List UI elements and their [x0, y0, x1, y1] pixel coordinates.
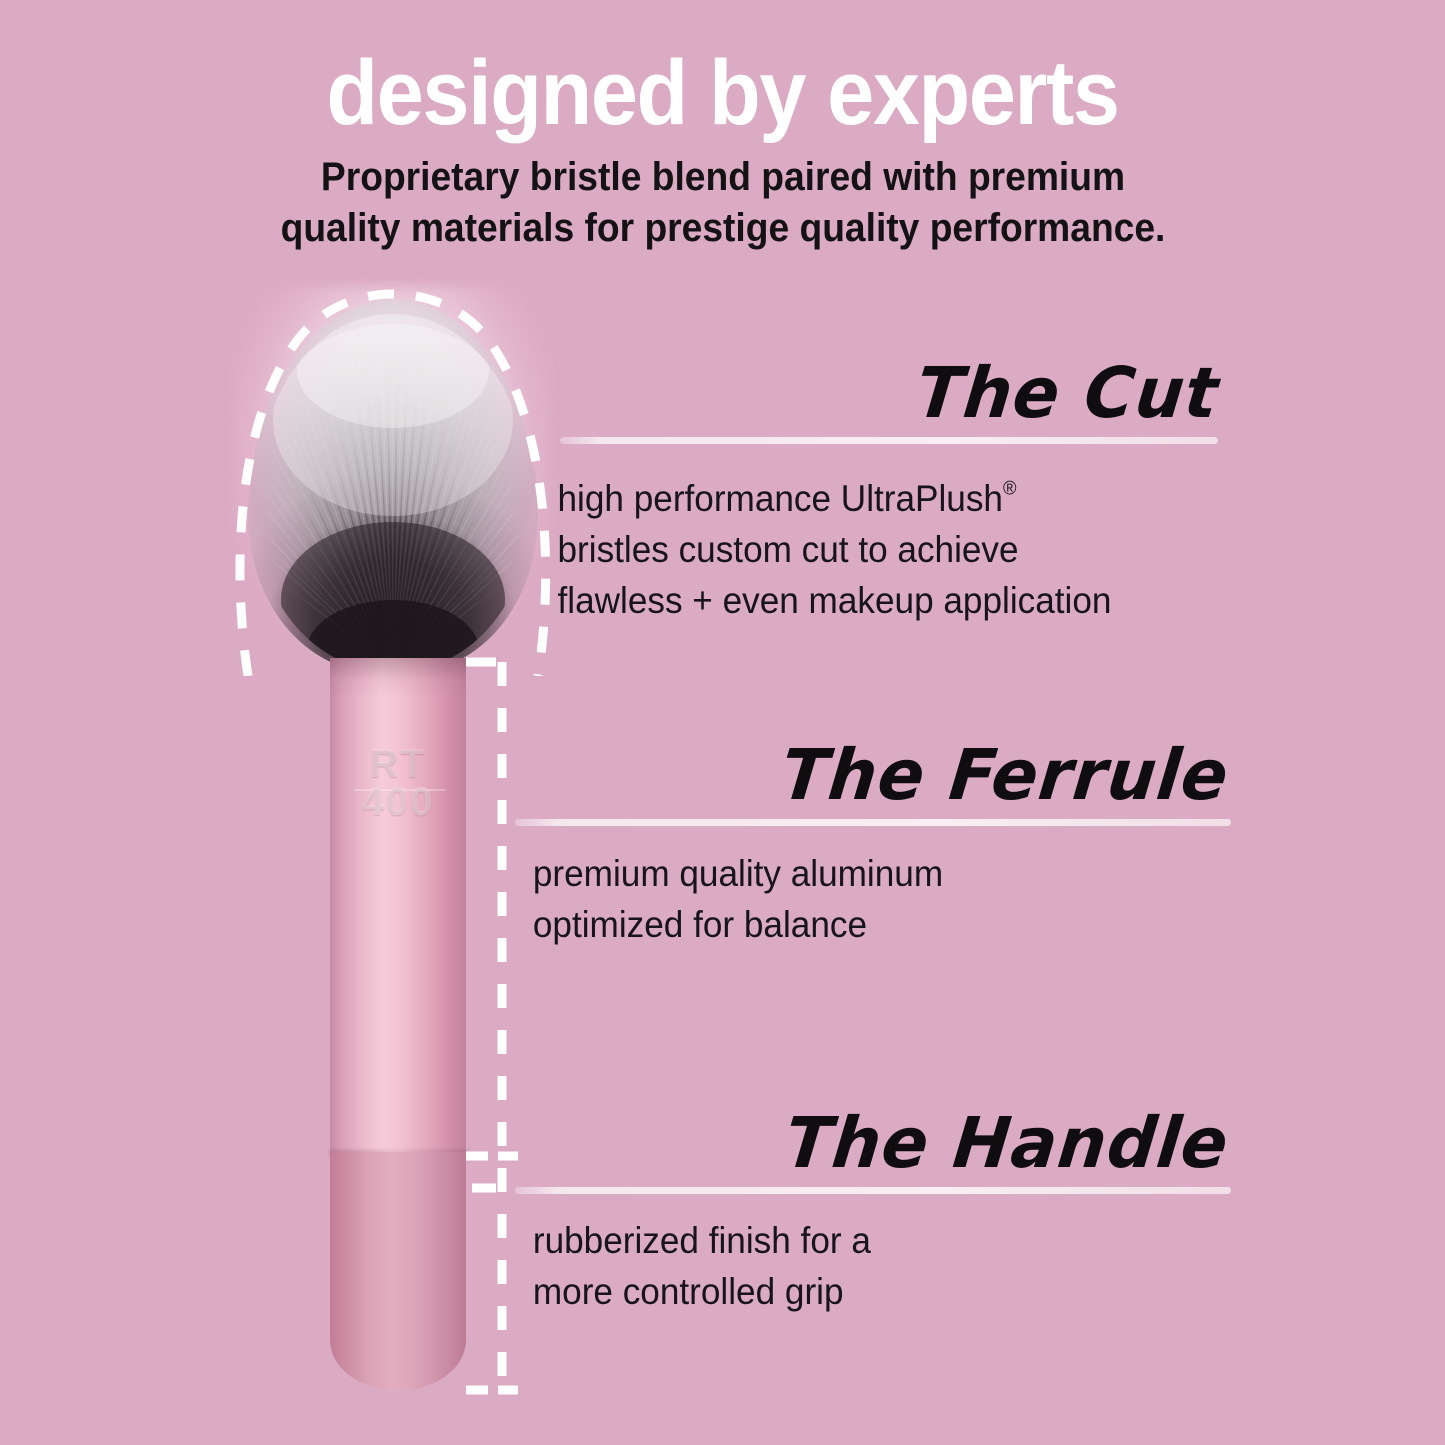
body-text-cut-1: high performance UltraPlush — [558, 478, 1003, 519]
section-body-handle: rubberized finish for a more controlled … — [533, 1215, 1212, 1317]
brush-ferrule — [330, 658, 466, 1154]
section-title-handle: The Handle — [536, 1102, 1238, 1184]
ferrule-handle-seam — [330, 1150, 466, 1157]
subtitle-line-2: quality materials for prestige quality p… — [258, 203, 1188, 254]
section-ferrule: The Ferrule — [515, 734, 1230, 816]
section-handle: The Handle — [515, 1102, 1230, 1184]
brush-head-bristles — [248, 300, 538, 672]
header-block: designed by experts Proprietary bristle … — [0, 48, 1445, 255]
body-line-handle-1: rubberized finish for a — [533, 1215, 1212, 1266]
section-body-cut: high performance UltraPlush® bristles cu… — [558, 473, 1223, 626]
brush-head-glow — [232, 286, 552, 666]
body-line-ferrule-1: premium quality aluminum — [533, 848, 1212, 899]
logo-divider — [354, 789, 446, 791]
subtitle-line-1: Proprietary bristle blend paired with pr… — [258, 152, 1188, 203]
body-line-cut-1: high performance UltraPlush® — [558, 473, 1223, 524]
section-body-ferrule: premium quality aluminum optimized for b… — [533, 848, 1212, 950]
product-model-number: 400 — [330, 780, 466, 825]
registered-trademark-icon: ® — [1003, 479, 1016, 500]
brand-logo-rt: RT — [330, 742, 466, 787]
section-divider-cut — [560, 437, 1218, 444]
brush-head-guide-arc — [222, 276, 562, 676]
body-line-cut-2: bristles custom cut to achieve — [558, 524, 1223, 575]
body-line-ferrule-2: optimized for balance — [533, 899, 1212, 950]
bristle-fiber-strands — [248, 300, 538, 672]
bristle-mass — [248, 300, 538, 672]
body-line-handle-2: more controlled grip — [533, 1266, 1212, 1317]
section-divider-handle — [515, 1187, 1231, 1194]
brush-handle — [330, 1152, 466, 1390]
product-infographic: RT 400 designed by experts Proprietary b… — [0, 0, 1445, 1445]
page-subtitle: Proprietary bristle blend paired with pr… — [258, 152, 1188, 254]
body-line-cut-3: flawless + even makeup application — [558, 575, 1223, 626]
section-cut: The Cut — [560, 352, 1220, 434]
page-title: designed by experts — [58, 48, 1387, 138]
section-title-cut: The Cut — [580, 352, 1229, 434]
section-divider-ferrule — [515, 819, 1231, 826]
section-title-ferrule: The Ferrule — [536, 734, 1238, 816]
ferrule-top-shadow — [330, 658, 466, 698]
